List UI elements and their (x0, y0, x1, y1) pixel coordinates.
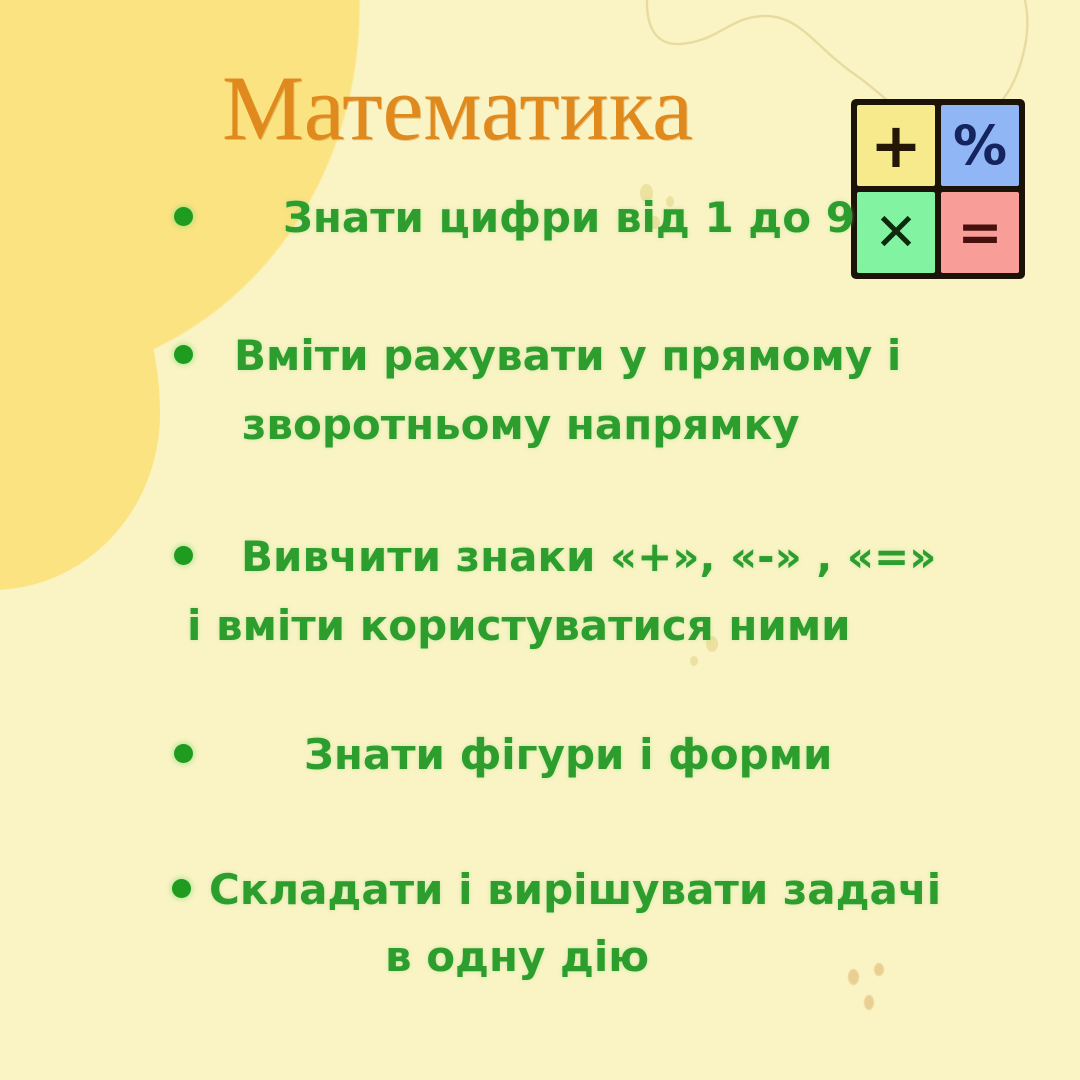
list-item-label: Вивчити знаки «+», «-» , «=» (241, 524, 936, 590)
skills-list: Знати цифри від 1 до 9 Вміти рахувати у … (0, 0, 1080, 1080)
list-item-label-line2: зворотньому напрямку (242, 392, 799, 458)
bullet-dot-icon (172, 879, 191, 898)
list-item-label: Складати і вирішувати задачі (209, 857, 941, 923)
bullet-dot-icon (174, 546, 193, 565)
list-item-label: Вміти рахувати у прямому і (234, 323, 901, 389)
bullet-dot-icon (174, 744, 193, 763)
list-item-label: Знати цифри від 1 до 9 (283, 185, 855, 251)
math-skills-poster: Математика + % ✕ = Знати цифри від 1 до … (0, 0, 1080, 1080)
list-item-label-line2: в одну дію (385, 924, 649, 990)
list-item-label: Знати фігури і форми (304, 722, 832, 788)
bullet-dot-icon (174, 207, 193, 226)
bullet-dot-icon (174, 345, 193, 364)
list-item-label-line2: і вміти користуватися ними (187, 593, 851, 659)
